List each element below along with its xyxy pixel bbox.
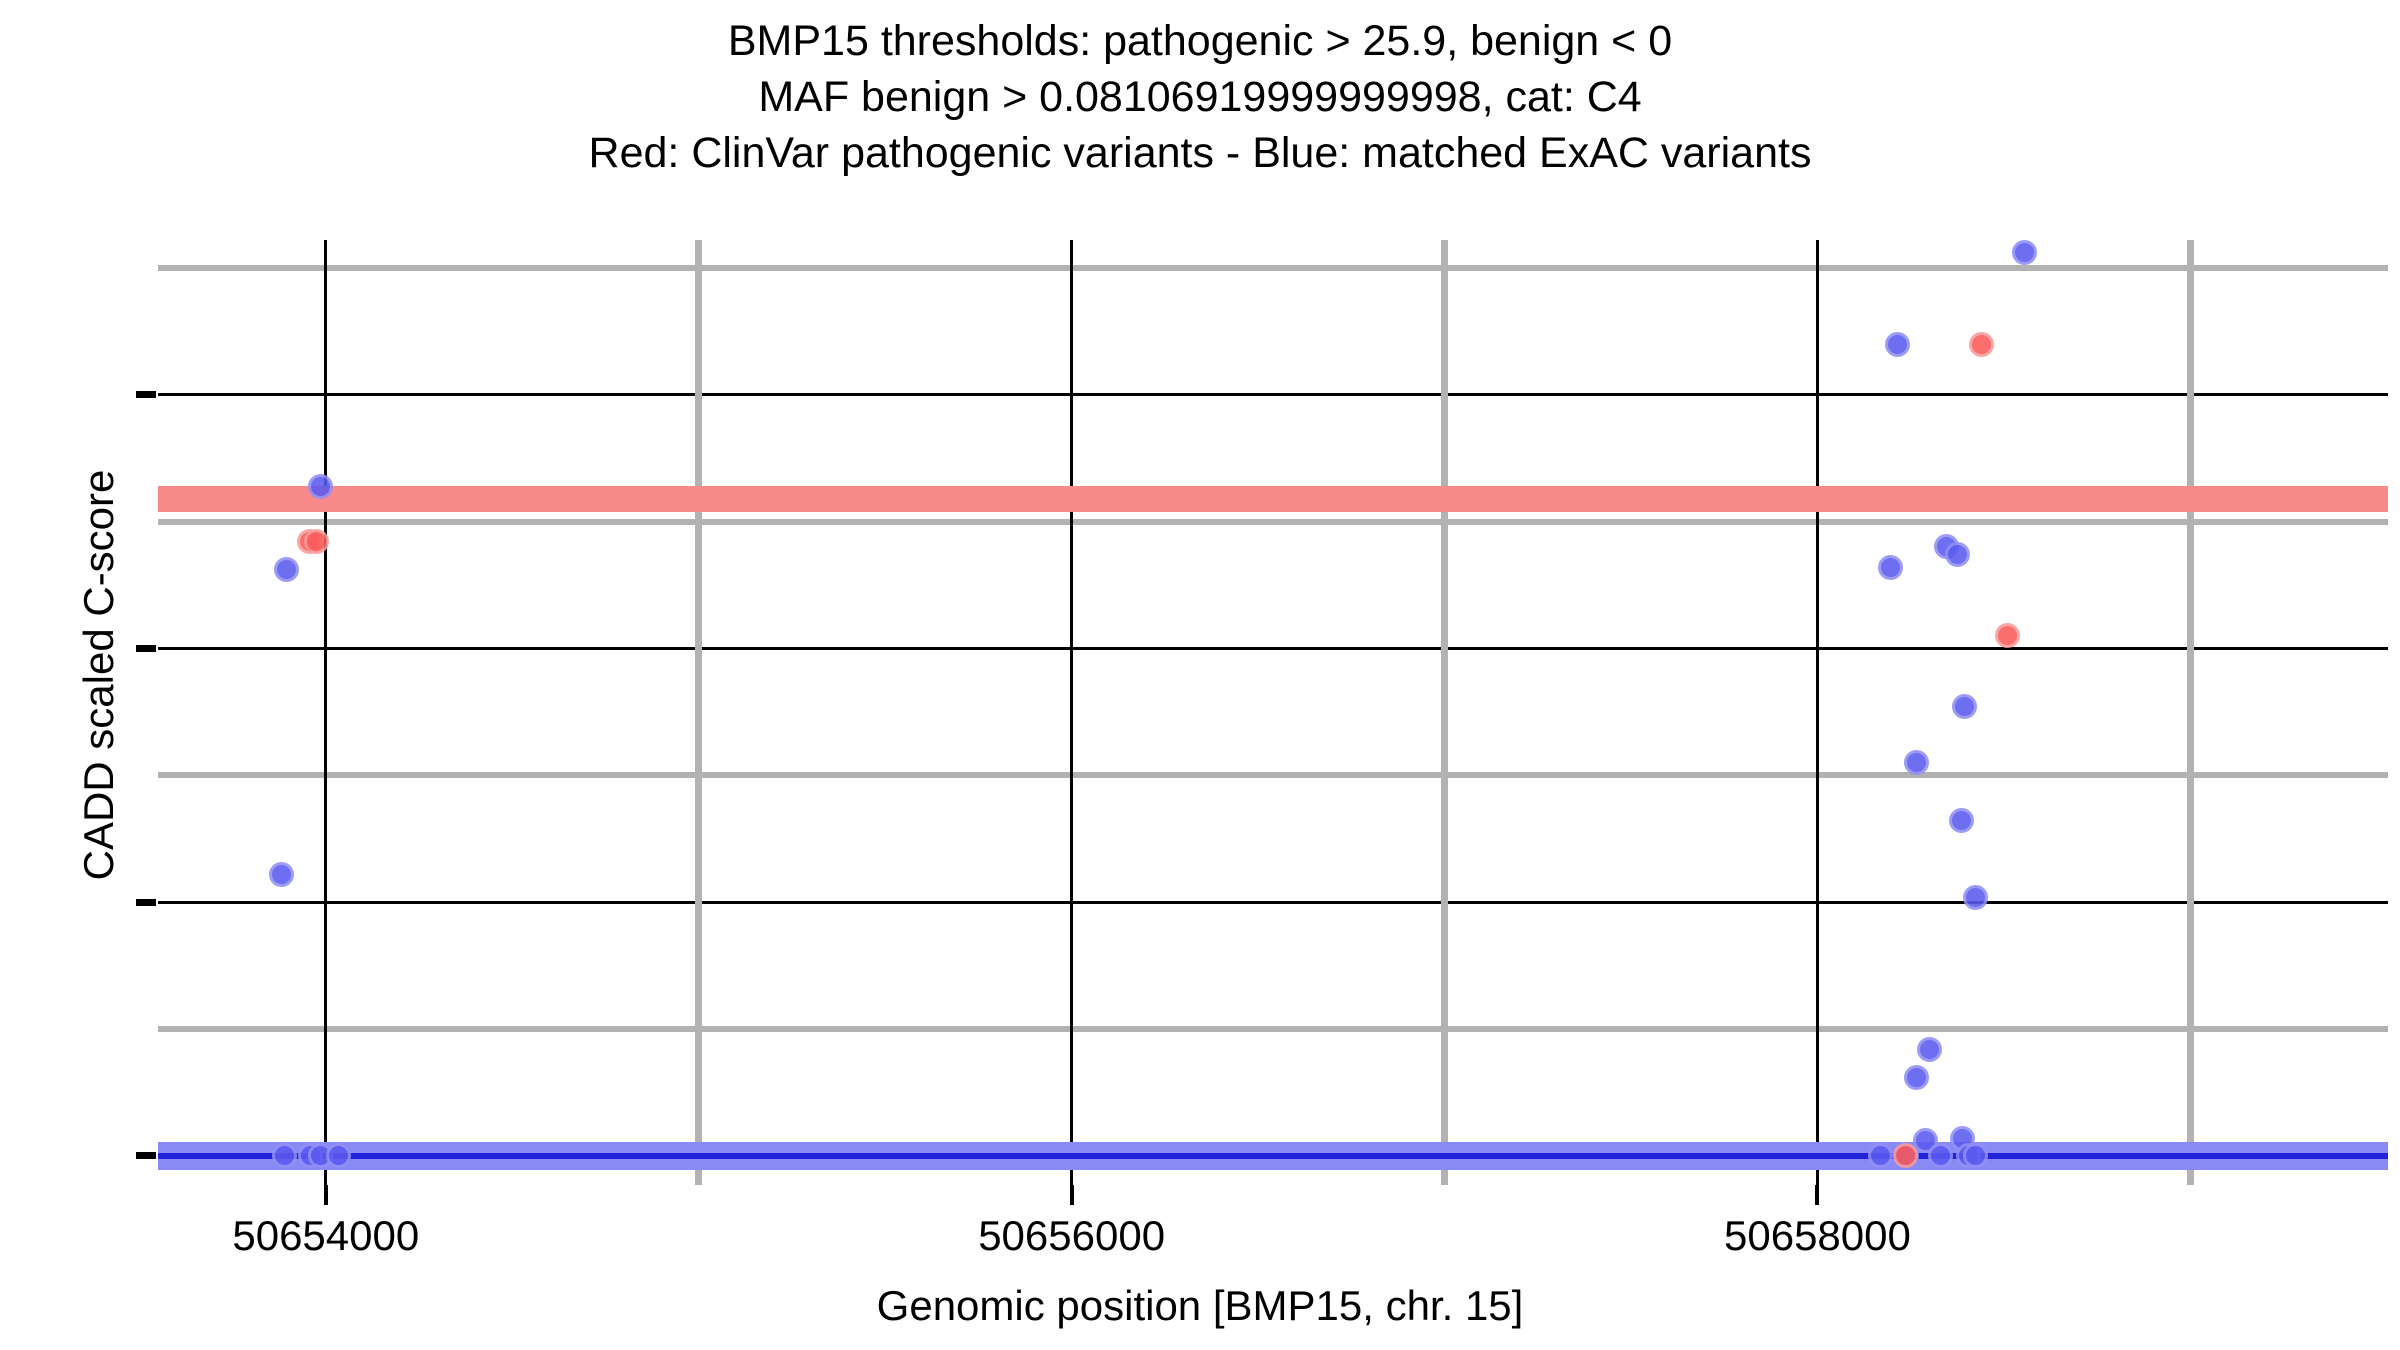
data-point-benign[interactable]	[2012, 240, 2037, 265]
chart-title: BMP15 thresholds: pathogenic > 25.9, ben…	[0, 14, 2400, 182]
y-gridline-5	[158, 1026, 2388, 1032]
x-axis-line-50654000	[324, 240, 327, 1185]
x-gridline-50655000	[695, 240, 702, 1185]
data-point-pathogenic[interactable]	[1995, 623, 2020, 648]
plot-area: 0102030506540005065600050658000	[158, 240, 2388, 1185]
data-point-pathogenic[interactable]	[1969, 332, 1994, 357]
data-point-benign[interactable]	[1917, 1037, 1942, 1062]
x-axis-label: Genomic position [BMP15, chr. 15]	[0, 1282, 2400, 1330]
y-axis-label: CADD scaled C-score	[66, 0, 132, 1350]
x-axis-line-50658000	[1816, 240, 1819, 1185]
y-gridline-25	[158, 519, 2388, 525]
cadd-scatter-figure: BMP15 thresholds: pathogenic > 25.9, ben…	[0, 0, 2400, 1350]
x-tick-mark-50658000	[1815, 1185, 1819, 1205]
x-tick-mark-50654000	[324, 1185, 328, 1205]
y-tick-mark-30	[136, 391, 156, 398]
data-point-benign[interactable]	[1904, 750, 1929, 775]
title-line-3: Red: ClinVar pathogenic variants - Blue:…	[0, 126, 2400, 182]
data-point-benign[interactable]	[269, 862, 294, 887]
data-point-benign[interactable]	[1945, 542, 1970, 567]
x-gridline-50657000	[1441, 240, 1448, 1185]
y-axis-line-30	[158, 393, 2388, 396]
y-tick-mark-0	[136, 1152, 156, 1159]
data-point-benign[interactable]	[1952, 694, 1977, 719]
y-gridline-15	[158, 772, 2388, 778]
benign-threshold-line	[158, 1153, 2388, 1159]
y-axis-line-20	[158, 647, 2388, 650]
title-line-2: MAF benign > 0.08106919999999998, cat: C…	[0, 70, 2400, 126]
x-tick-label-50654000: 50654000	[126, 1212, 526, 1260]
y-tick-mark-20	[136, 645, 156, 652]
data-point-benign[interactable]	[1904, 1065, 1929, 1090]
data-point-benign[interactable]	[1878, 555, 1903, 580]
x-axis-line-50656000	[1070, 240, 1073, 1185]
data-point-benign[interactable]	[308, 474, 333, 499]
pathogenic-threshold-band	[158, 486, 2388, 512]
x-tick-label-50658000: 50658000	[1617, 1212, 2017, 1260]
y-axis-line-10	[158, 901, 2388, 904]
y-gridline-35	[158, 265, 2388, 271]
y-tick-mark-10	[136, 899, 156, 906]
data-point-benign[interactable]	[1949, 808, 1974, 833]
x-gridline-50659000	[2187, 240, 2194, 1185]
data-point-pathogenic[interactable]	[1893, 1143, 1918, 1168]
data-point-benign[interactable]	[274, 557, 299, 582]
x-tick-label-50656000: 50656000	[872, 1212, 1272, 1260]
data-point-benign[interactable]	[1963, 885, 1988, 910]
x-tick-mark-50656000	[1070, 1185, 1074, 1205]
data-point-benign[interactable]	[1885, 332, 1910, 357]
title-line-1: BMP15 thresholds: pathogenic > 25.9, ben…	[0, 14, 2400, 70]
